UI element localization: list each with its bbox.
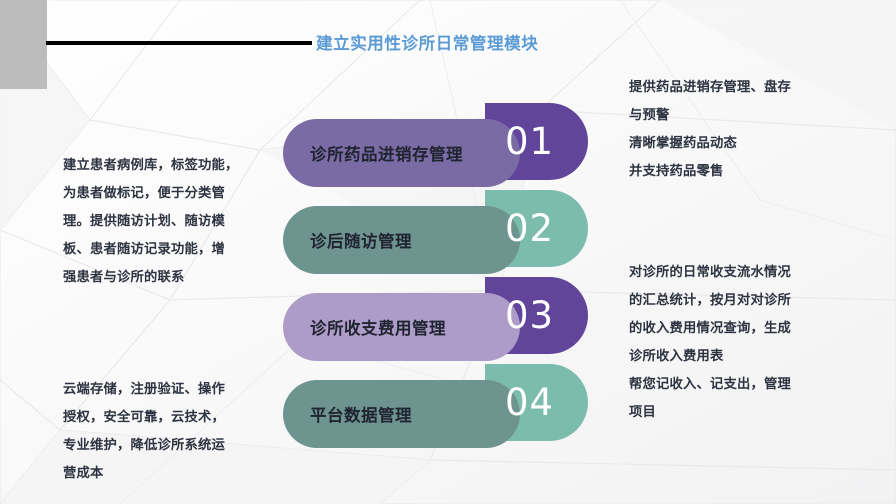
card-label: 诊所药品进销存管理 <box>283 119 493 187</box>
module-card-02[interactable]: 诊后随访管理 02 <box>283 190 588 278</box>
card-number: 04 <box>485 364 588 441</box>
card-label: 诊所收支费用管理 <box>283 293 493 361</box>
module-card-03[interactable]: 诊所收支费用管理 03 <box>283 277 588 365</box>
module-card-01[interactable]: 诊所药品进销存管理 01 <box>283 103 588 191</box>
card-label: 平台数据管理 <box>283 380 493 448</box>
card-number: 01 <box>485 103 588 180</box>
module-card-list: 诊所药品进销存管理 01 诊后随访管理 02 诊所收支费用管理 03 平台数据管… <box>0 0 896 504</box>
card-label: 诊后随访管理 <box>283 206 493 274</box>
card-number: 02 <box>485 190 588 267</box>
card-number: 03 <box>485 277 588 354</box>
module-card-04[interactable]: 平台数据管理 04 <box>283 364 588 452</box>
